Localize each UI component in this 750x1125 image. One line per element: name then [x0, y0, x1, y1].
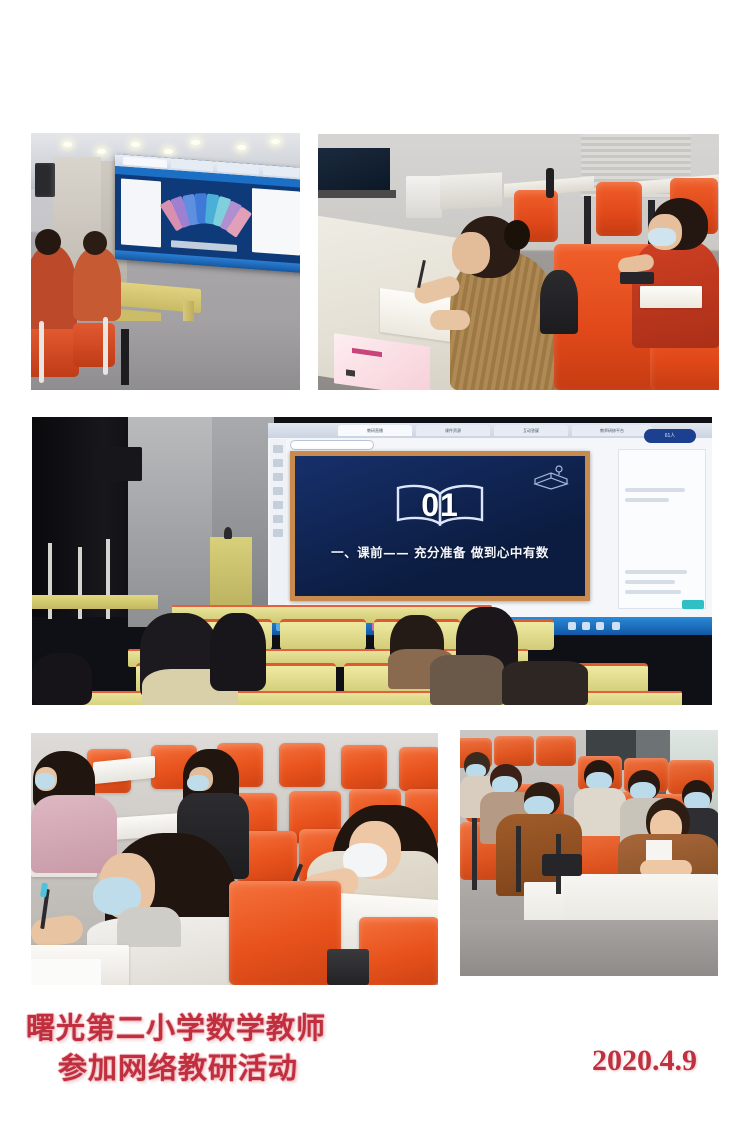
attendee: [32, 653, 92, 705]
slide-number-block: 01: [295, 482, 585, 533]
browser-tab[interactable]: 互动答疑: [494, 425, 568, 436]
date-label: 2020.4.9: [592, 1044, 697, 1078]
podium-microphone: [224, 527, 232, 539]
textbook-mark: [346, 369, 355, 376]
attendee-head: [35, 229, 61, 255]
participants-panel: [618, 449, 706, 609]
attendee-head: [83, 231, 107, 255]
ceiling-light: [191, 140, 200, 145]
chair-armrest: [103, 317, 108, 375]
attendee-coat: [574, 788, 626, 836]
caption-line-2: 参加网络教研活动: [58, 1045, 298, 1087]
attendee: [31, 245, 77, 341]
attendee: [210, 613, 266, 691]
chair-armrest: [39, 321, 44, 383]
wall-tv: [94, 447, 142, 481]
slide-caption-bar: [171, 240, 237, 252]
photo-lecture-hall-projection: 教研直播 课件资源 互动答疑 教师研修平台: [32, 417, 712, 705]
attendee-notes: [640, 286, 702, 308]
ceiling-light: [237, 145, 246, 150]
left-pane: [121, 178, 161, 247]
photo-teacher-taking-notes: [318, 134, 719, 390]
poster-page: 教研直播 课件资源 互动答疑 教师研修平台: [0, 0, 750, 1125]
floor: [460, 920, 718, 976]
teacher-hand: [430, 310, 470, 330]
monitor-stand: [318, 190, 396, 198]
teacher-hair-bun: [504, 220, 530, 250]
chair-post: [546, 168, 554, 198]
teacher-face: [452, 232, 490, 274]
ceiling-light: [131, 142, 140, 147]
tool-sidebar[interactable]: [270, 439, 286, 615]
browser-tab[interactable]: 教师研修平台: [572, 425, 652, 436]
ceiling-light: [97, 149, 106, 154]
ceiling-light: [271, 139, 280, 144]
browser-address-bar[interactable]: [290, 440, 374, 450]
chair-leg: [584, 196, 591, 246]
slide-surface: 01 一、课前—— 充分准备 做到心中有数: [295, 456, 585, 596]
attendee-jacket: [430, 655, 504, 705]
photo-tiered-seating-participants: [460, 730, 718, 976]
whiteboard: [440, 172, 502, 209]
seated-person-silhouette: [540, 270, 578, 334]
chair: [596, 182, 642, 236]
slide-title: 一、课前—— 充分准备 做到心中有数: [295, 542, 585, 561]
screen-content: [115, 174, 300, 264]
presentation-slide: 01 一、课前—— 充分准备 做到心中有数: [290, 451, 590, 601]
wall-monitor: [318, 148, 390, 190]
browser-tab[interactable]: 课件资源: [416, 425, 490, 436]
fanned-cards-graphic: [167, 190, 245, 236]
face-mask: [524, 796, 554, 816]
attendee-backpack: [502, 661, 588, 705]
led-display-screen: [115, 154, 300, 273]
ceiling-light: [164, 149, 173, 154]
photo-masked-teachers-writing: [31, 733, 438, 985]
photo-lecture-hall-led-wall: [31, 133, 300, 390]
projection-screen: 教研直播 课件资源 互动答疑 教师研修平台: [268, 423, 712, 635]
attendee: [73, 247, 121, 321]
right-pane: [252, 188, 300, 256]
participant-count-badge: 61人: [644, 429, 696, 443]
ceiling-light: [63, 142, 72, 147]
wall-speaker: [35, 163, 55, 197]
face-mask: [648, 228, 676, 246]
open-book-icon: 01: [388, 482, 492, 528]
auditorium-seating: [32, 605, 712, 705]
handbag: [542, 854, 582, 876]
caption-block: 曙光第二小学数学教师 参加网络教研活动 2020.4.9: [0, 1000, 750, 1100]
cabinet: [406, 176, 442, 218]
browser-tab[interactable]: 教研直播: [338, 425, 412, 436]
slide-number: 01: [388, 488, 492, 522]
caption-line-1: 曙光第二小学数学教师: [26, 1005, 326, 1047]
phone: [620, 272, 654, 284]
chair-leg: [121, 329, 129, 385]
auditorium-chair: [73, 323, 115, 367]
